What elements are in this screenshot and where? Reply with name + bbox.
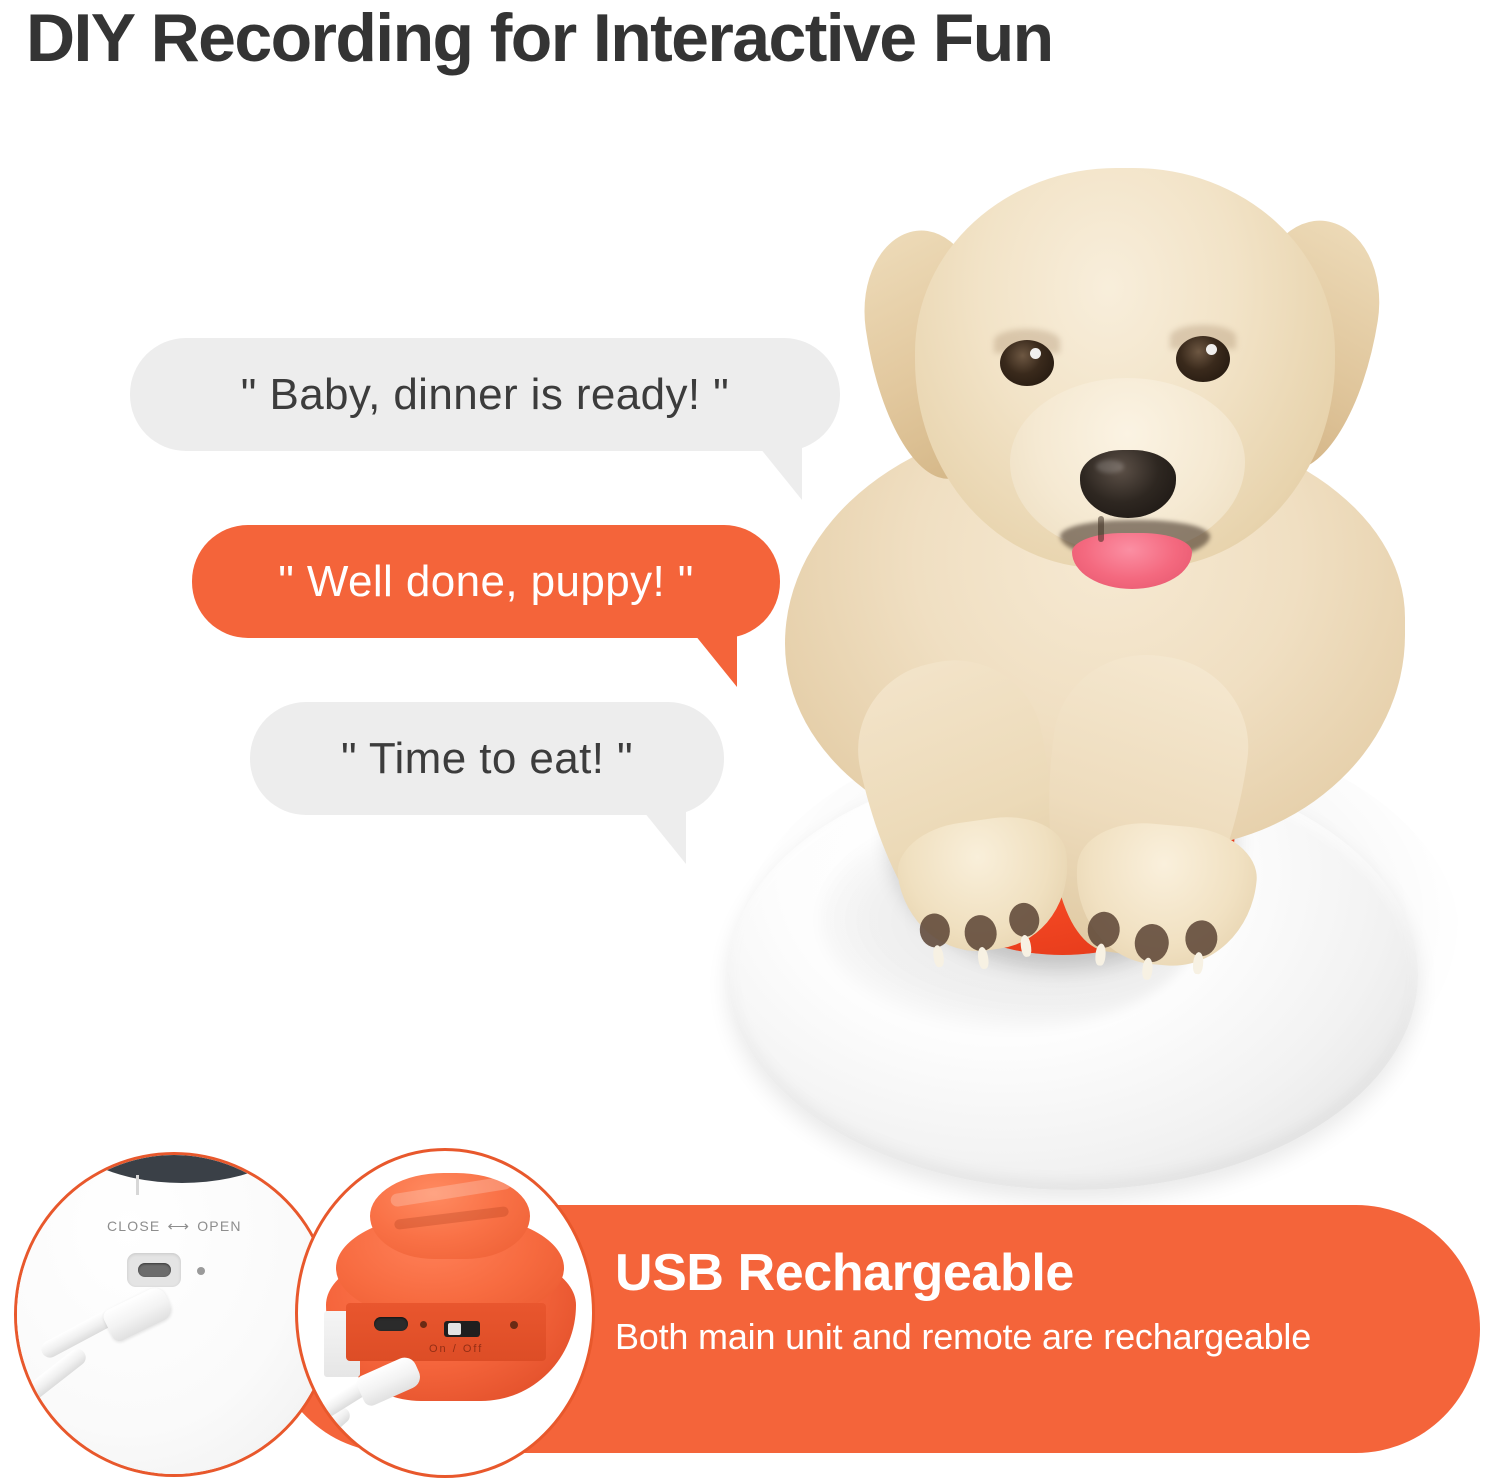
indicator-led xyxy=(197,1267,205,1275)
open-label: OPEN xyxy=(197,1218,241,1234)
speech-bubble-well-done: " Well done, puppy! " xyxy=(192,525,780,638)
main-unit-seam xyxy=(136,1175,139,1195)
speech-bubble-text: " Well done, puppy! " xyxy=(278,557,694,607)
puppy-mouth-line xyxy=(1098,516,1104,542)
product-photo xyxy=(700,120,1500,1210)
puppy-nose-highlight xyxy=(1096,460,1124,473)
main-unit-body xyxy=(14,1152,334,1477)
power-switch-knob[interactable] xyxy=(448,1323,461,1335)
speech-bubble-text: " Time to eat! " xyxy=(341,734,633,784)
close-label: CLOSE xyxy=(107,1218,160,1234)
speech-bubble-time-to-eat: " Time to eat! " xyxy=(250,702,724,815)
speech-bubble-tail xyxy=(644,812,686,864)
speech-bubble-text: " Baby, dinner is ready! " xyxy=(241,370,729,420)
usb-c-port-icon xyxy=(374,1317,408,1331)
inset-main-unit-charging: CLOSE ⟷ OPEN xyxy=(14,1152,334,1477)
power-switch-label: On / Off xyxy=(429,1343,483,1355)
inset-remote-charging: On / Off xyxy=(295,1148,595,1478)
product-infographic: DIY Recording for Interactive Fun xyxy=(0,0,1500,1482)
speech-bubble-tail xyxy=(695,635,737,687)
speech-bubble-dinner-ready: " Baby, dinner is ready! " xyxy=(130,338,840,451)
page-title: DIY Recording for Interactive Fun xyxy=(26,0,1053,78)
puppy-eye-right xyxy=(1176,336,1230,382)
double-arrow-icon: ⟷ xyxy=(167,1217,190,1235)
puppy-toe-pad xyxy=(1133,923,1170,964)
puppy-toe-pad xyxy=(1184,919,1219,958)
close-open-label: CLOSE ⟷ OPEN xyxy=(107,1217,242,1235)
banner-subtitle: Both main unit and remote are rechargeab… xyxy=(615,1315,1415,1358)
usb-c-port-icon xyxy=(138,1263,171,1277)
indicator-led xyxy=(510,1321,518,1329)
speech-bubble-tail xyxy=(760,448,802,500)
banner-text-block: USB Rechargeable Both main unit and remo… xyxy=(615,1243,1415,1359)
indicator-led xyxy=(420,1321,427,1328)
banner-title: USB Rechargeable xyxy=(615,1243,1415,1303)
puppy-eye-left xyxy=(1000,340,1054,386)
